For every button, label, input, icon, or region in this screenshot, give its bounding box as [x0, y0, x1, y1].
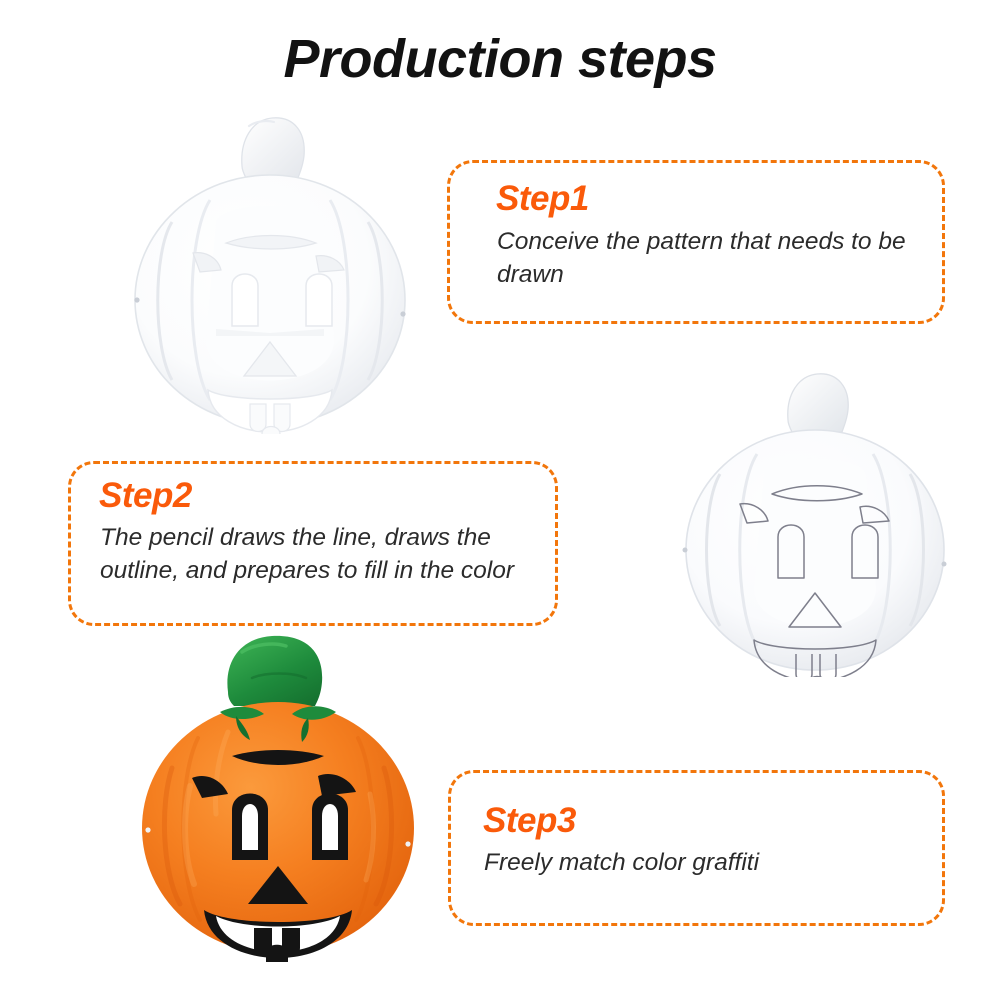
- mask-pencil-outlined-pumpkin: [672, 362, 958, 677]
- page-title: Production steps: [0, 28, 1000, 90]
- step-2-heading: Step2: [99, 476, 192, 516]
- step-3-heading: Step3: [483, 801, 576, 841]
- step-1-body: Conceive the pattern that needs to be dr…: [497, 225, 917, 291]
- step-3-body: Freely match color graffiti: [484, 846, 914, 879]
- mask-painted-pumpkin: [132, 628, 424, 962]
- mask-blank-white-pumpkin: [120, 104, 420, 434]
- infographic-page: Production steps: [0, 0, 1000, 1000]
- step-2-body: The pencil draws the line, draws the out…: [100, 521, 550, 587]
- step-callout-1: Step1 Conceive the pattern that needs to…: [447, 160, 945, 324]
- step-callout-2: Step2 The pencil draws the line, draws t…: [68, 461, 558, 626]
- step-1-heading: Step1: [496, 179, 589, 219]
- step-callout-3: Step3 Freely match color graffiti: [448, 770, 945, 926]
